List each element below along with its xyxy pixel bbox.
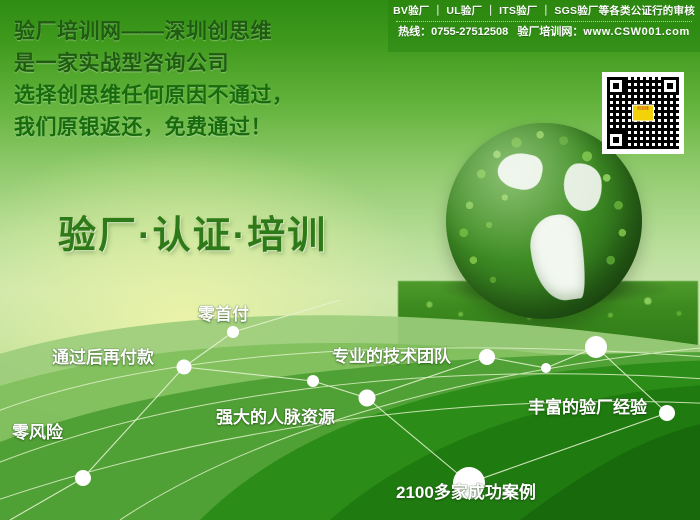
- headline-line-2: 是一家实战型咨询公司: [14, 48, 386, 80]
- network-node: [307, 375, 319, 387]
- network-node: [227, 326, 239, 338]
- headline-line-1: 验厂培训网——深圳创思维: [14, 16, 386, 48]
- network-label-pay-after-pass: 通过后再付款: [52, 348, 154, 368]
- main-slogan: 验厂·认证·培训: [58, 211, 327, 261]
- header-info-bar: BV验厂 ｜ UL验厂 ｜ ITS验厂 ｜ SGS验厂等各类公证行的审核 热线：…: [388, 0, 700, 52]
- site-label: 验厂培训网：: [517, 26, 583, 38]
- qr-finder-top-left-icon: [607, 77, 625, 95]
- certification-list: BV验厂 ｜ UL验厂 ｜ ITS验厂 ｜ SGS验厂等各类公证行的审核: [388, 4, 700, 19]
- hotline-label: 热线：: [398, 26, 431, 38]
- network-node: [359, 390, 376, 407]
- network-node: [177, 360, 192, 375]
- hotline-and-website: 热线：0755-27512508 验厂培训网：www.CSW001.com: [388, 24, 700, 40]
- header-dotted-divider: [396, 21, 692, 22]
- network-label-professional-team: 专业的技术团队: [332, 347, 451, 367]
- headline-block: 验厂培训网——深圳创思维 是一家实战型咨询公司 选择创思维任何原因不通过， 我们…: [14, 16, 386, 144]
- qr-finder-top-right-icon: [661, 77, 679, 95]
- network-node: [585, 336, 607, 358]
- network-label-strong-network: 强大的人脉资源: [216, 408, 335, 428]
- network-node: [479, 349, 495, 365]
- hotline-number: 0755-27512508: [431, 26, 508, 38]
- network-label-success-cases: 2100多家成功案例: [396, 483, 536, 503]
- network-node: [659, 405, 675, 421]
- headline-line-3: 选择创思维任何原因不通过，: [14, 80, 386, 112]
- network-node: [541, 363, 551, 373]
- network-label-zero-downpayment: 零首付: [198, 305, 249, 325]
- site-url[interactable]: www.CSW001.com: [583, 26, 689, 38]
- qr-finder-bottom-left-icon: [607, 131, 625, 149]
- network-node: [75, 470, 91, 486]
- qr-matrix: 创思维: [607, 77, 679, 149]
- network-label-zero-risk: 零风险: [12, 423, 63, 443]
- network-label-rich-experience: 丰富的验厂经验: [528, 398, 647, 418]
- qr-center-logo: 创思维: [632, 105, 654, 122]
- promo-banner: 验厂培训网——深圳创思维 是一家实战型咨询公司 选择创思维任何原因不通过， 我们…: [0, 0, 700, 520]
- qr-code[interactable]: 创思维: [602, 72, 684, 154]
- headline-line-4: 我们原银返还，免费通过！: [14, 112, 386, 144]
